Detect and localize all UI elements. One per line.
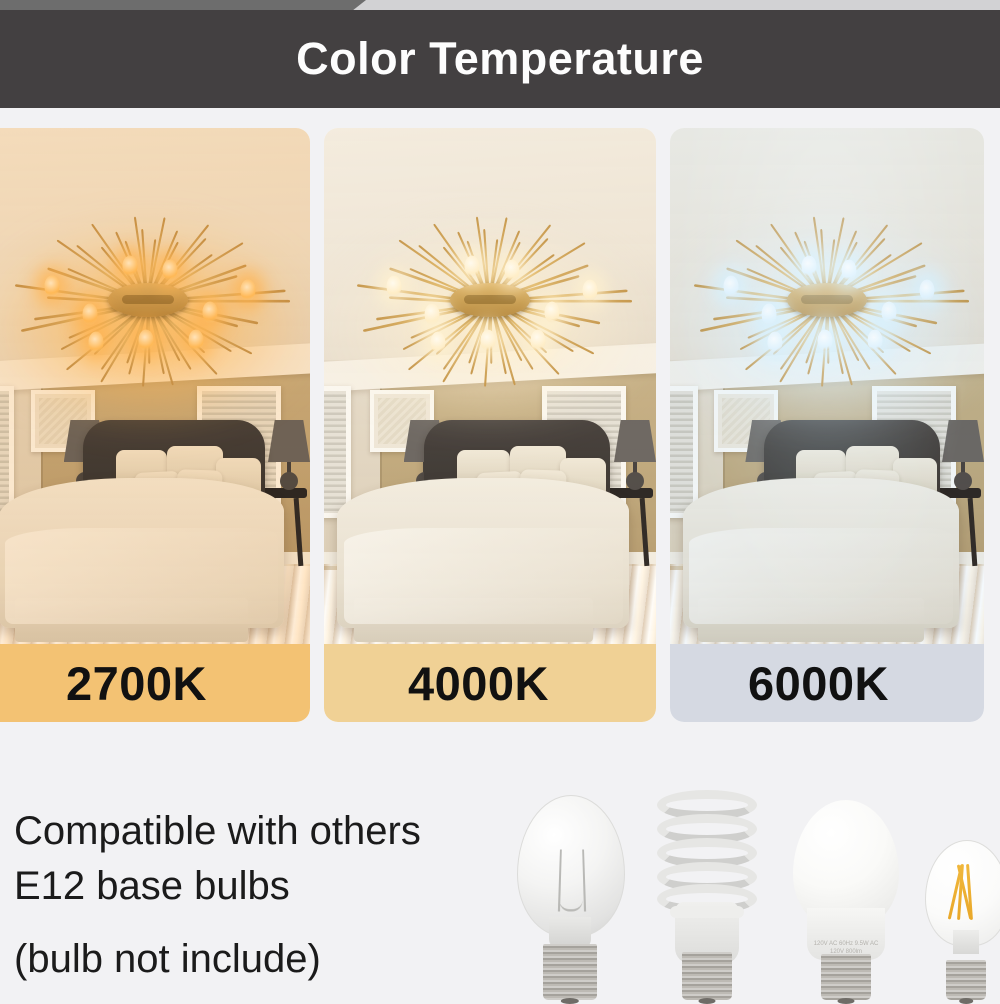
panel-label: 2700K bbox=[66, 656, 207, 711]
table-lamp-right bbox=[268, 420, 310, 492]
color-temperature-panels: 2700K bbox=[0, 128, 1000, 722]
window-blind bbox=[0, 391, 9, 513]
fixture-bulb bbox=[163, 260, 178, 281]
window-left bbox=[324, 386, 351, 518]
room-scene-2700k bbox=[0, 128, 310, 644]
panel-label: 4000K bbox=[408, 656, 549, 711]
compatible-bulb-illustrations: Incandescent CFL Spiral 120V AC 60Hz 9.5… bbox=[505, 780, 995, 1000]
window-blind bbox=[670, 391, 693, 513]
cfl-spiral-bulb-icon: CFL Spiral bbox=[653, 790, 761, 1000]
header: Color Temperature bbox=[0, 0, 1000, 118]
fixture-bulb bbox=[123, 256, 138, 277]
fixture-bulb bbox=[505, 260, 520, 281]
fixture-bulb bbox=[531, 330, 546, 351]
compatibility-text: Compatible with others E12 base bulbs (b… bbox=[14, 808, 514, 992]
fixture-bulb bbox=[545, 302, 560, 323]
led-filament-bulb-icon: LED Filament bbox=[923, 840, 1000, 1000]
fixture-bulb bbox=[920, 280, 935, 301]
fixture-bulb bbox=[802, 256, 817, 277]
window-blind bbox=[324, 391, 346, 513]
fixture-bulb bbox=[189, 330, 204, 351]
fixture-hub bbox=[108, 283, 188, 317]
bed-throw bbox=[5, 528, 277, 624]
fixture-bulb bbox=[139, 330, 154, 351]
fixture-bulb bbox=[425, 304, 440, 325]
fixture-bulb bbox=[762, 304, 777, 325]
fixture-bulb bbox=[387, 276, 402, 297]
compat-line-1: Compatible with others bbox=[14, 808, 514, 855]
room-scene-4000k bbox=[324, 128, 656, 644]
panel-2700k[interactable]: 2700K bbox=[0, 128, 310, 722]
label-bar-2700k: 2700K bbox=[0, 644, 310, 722]
fixture-bulb bbox=[465, 256, 480, 277]
title-bar: Color Temperature bbox=[0, 10, 1000, 108]
room-scene-6000k bbox=[670, 128, 984, 644]
fixture-bulb bbox=[842, 260, 857, 281]
label-bar-4000k: 4000K bbox=[324, 644, 656, 722]
fixture-bulb bbox=[89, 332, 104, 353]
fixture-bulb bbox=[818, 330, 833, 351]
fixture-bulb bbox=[431, 332, 446, 353]
bed-throw bbox=[344, 528, 623, 624]
window-left bbox=[670, 386, 698, 518]
panel-4000k[interactable]: 4000K bbox=[324, 128, 656, 722]
panel-label: 6000K bbox=[748, 656, 889, 711]
fixture-bulb bbox=[83, 304, 98, 325]
table-lamp-right bbox=[942, 420, 984, 492]
window-left bbox=[0, 386, 14, 518]
fixture-hub bbox=[787, 283, 867, 317]
led-frosted-bulb-icon: 120V AC 60Hz 9.5W AC 120V 800lm LED bbox=[791, 800, 901, 1000]
fixture-bulb bbox=[882, 302, 897, 323]
bed-throw bbox=[689, 528, 953, 624]
fixture-bulb bbox=[203, 302, 218, 323]
table-lamp-right bbox=[614, 420, 656, 492]
fixture-bulb bbox=[868, 330, 883, 351]
fixture-bulb bbox=[45, 276, 60, 297]
fixture-bulb bbox=[583, 280, 598, 301]
compat-line-3: (bulb not include) bbox=[14, 936, 514, 983]
label-bar-6000k: 6000K bbox=[670, 644, 984, 722]
page-title: Color Temperature bbox=[296, 33, 704, 85]
fixture-bulb bbox=[241, 280, 256, 301]
compatibility-section: Compatible with others E12 base bulbs (b… bbox=[0, 722, 1000, 1000]
fixture-bulb bbox=[724, 276, 739, 297]
panel-6000k[interactable]: 6000K bbox=[670, 128, 984, 722]
compat-line-2: E12 base bulbs bbox=[14, 863, 514, 910]
incandescent-bulb-icon: Incandescent bbox=[511, 795, 629, 1000]
fixture-bulb bbox=[481, 330, 496, 351]
fixture-bulb bbox=[768, 332, 783, 353]
fixture-hub bbox=[450, 283, 530, 317]
